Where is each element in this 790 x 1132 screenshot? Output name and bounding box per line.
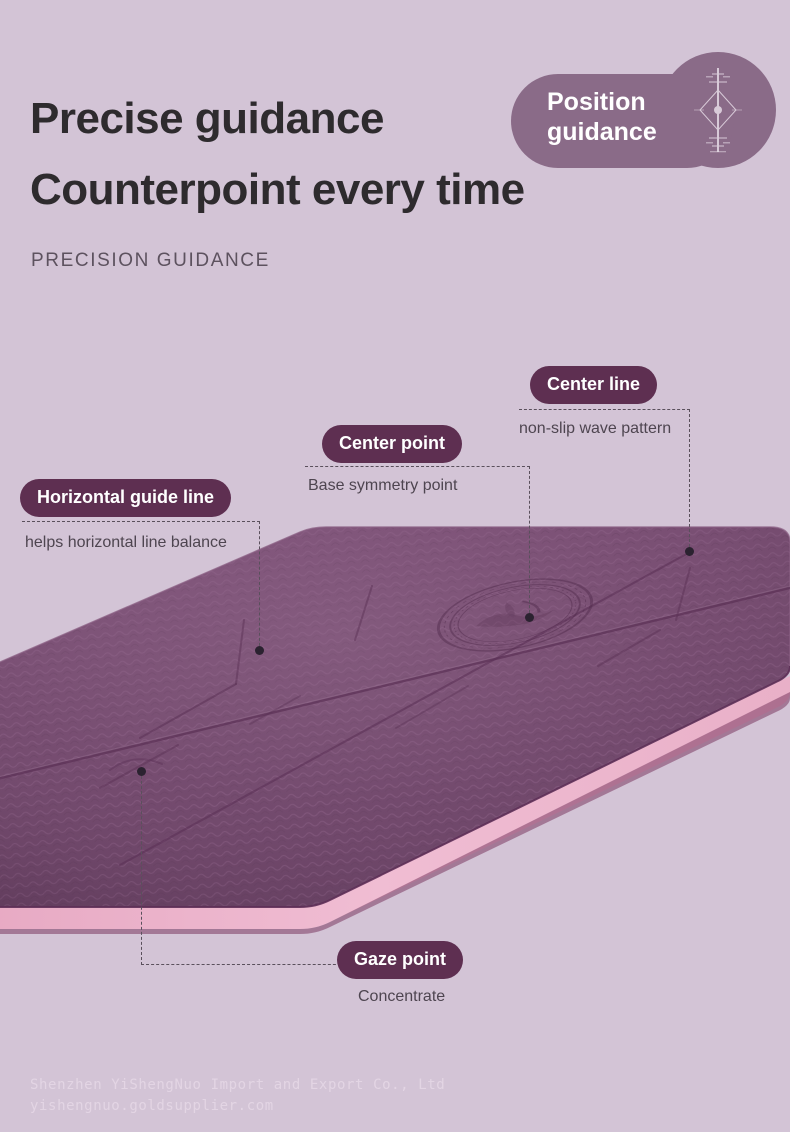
marker-dot-horizontal-guide bbox=[255, 646, 264, 655]
marker-dot-center-point bbox=[525, 613, 534, 622]
position-badge-line-2: guidance bbox=[547, 118, 657, 146]
leader-line-horizontal-guide-v bbox=[259, 521, 260, 651]
footer-watermark: Shenzhen YiShengNuo Import and Export Co… bbox=[30, 1075, 445, 1118]
leader-line-horizontal-guide-h bbox=[22, 521, 260, 522]
headline-line-1: Precise guidance bbox=[30, 94, 384, 143]
callout-title-gaze-point[interactable]: Gaze point bbox=[337, 941, 463, 979]
page-subtitle: PRECISION GUIDANCE bbox=[31, 250, 270, 272]
callout-title-center-line[interactable]: Center line bbox=[530, 366, 657, 404]
position-badge-label: Position guidance bbox=[547, 88, 657, 147]
leader-line-center-point-h bbox=[305, 466, 530, 467]
leader-line-gaze-point-h bbox=[141, 964, 346, 965]
leader-line-center-line-v bbox=[689, 409, 690, 552]
position-guidance-badge: Position guidance bbox=[511, 52, 776, 168]
footer-website: yishengnuo.goldsupplier.com bbox=[30, 1096, 445, 1118]
position-badge-line-1: Position bbox=[547, 88, 646, 116]
callout-desc-gaze-point: Concentrate bbox=[358, 989, 445, 1005]
page-title: Precise guidance Counterpoint every time bbox=[30, 97, 525, 212]
headline-line-2: Counterpoint every time bbox=[30, 168, 525, 212]
callout-desc-horizontal-guide-line: helps horizontal line balance bbox=[25, 535, 227, 551]
marker-dot-center-line bbox=[685, 547, 694, 556]
mat-surface bbox=[0, 510, 790, 930]
leader-line-center-line-h bbox=[519, 409, 690, 410]
callout-desc-center-line: non-slip wave pattern bbox=[519, 421, 671, 437]
callout-title-center-point[interactable]: Center point bbox=[322, 425, 462, 463]
callout-title-horizontal-guide-line[interactable]: Horizontal guide line bbox=[20, 479, 231, 517]
marker-dot-gaze-point bbox=[137, 767, 146, 776]
alignment-axis-icon bbox=[676, 64, 760, 156]
leader-line-center-point-v bbox=[529, 466, 530, 618]
footer-company: Shenzhen YiShengNuo Import and Export Co… bbox=[30, 1075, 445, 1097]
callout-desc-center-point: Base symmetry point bbox=[308, 478, 457, 494]
leader-line-gaze-point-v bbox=[141, 771, 142, 965]
